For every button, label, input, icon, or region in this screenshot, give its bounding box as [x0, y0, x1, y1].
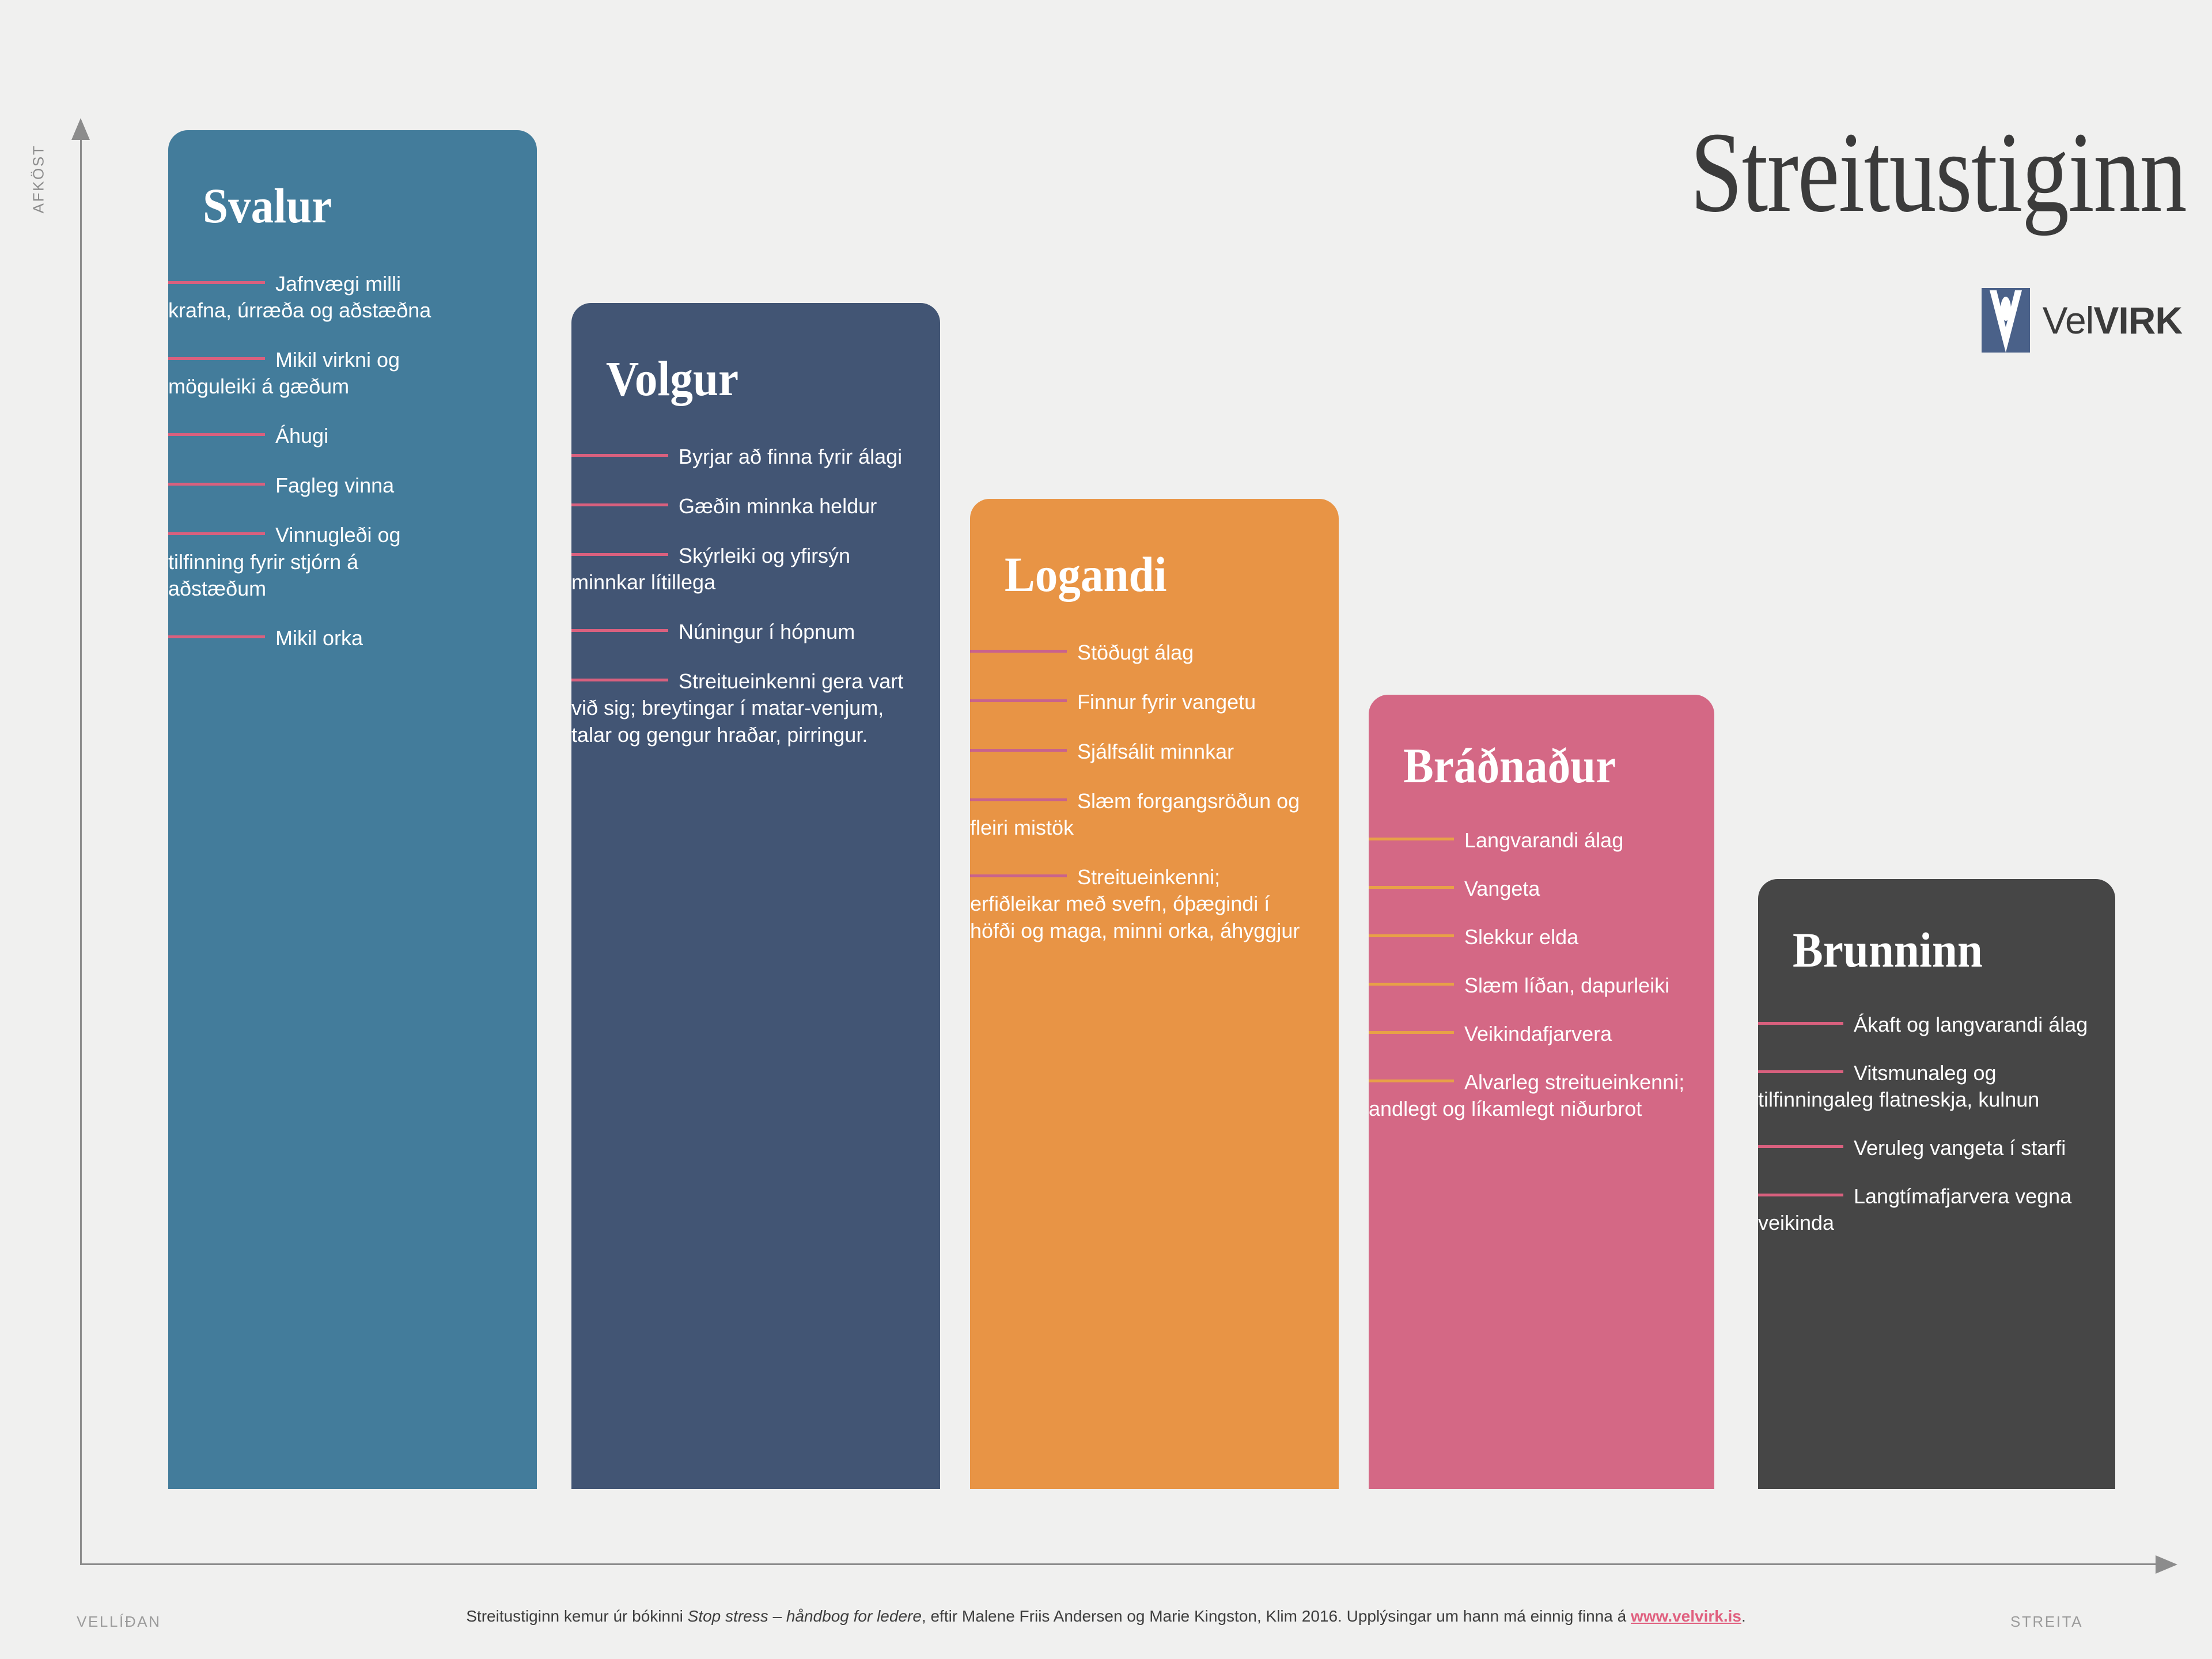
list-item-label: Veikindafjarvera — [1464, 1022, 1612, 1046]
list-item-label: Stöðugt álag — [1077, 641, 1194, 664]
velvirk-logo-text: VelVIRK — [2043, 298, 2182, 342]
list-item: Streitueinkenni; erfiðleikar með svefn, … — [970, 864, 1316, 944]
list-item-label: Langvarandi álag — [1464, 828, 1623, 852]
bullet-dash-icon — [1369, 838, 1454, 840]
bullet-dash-icon — [1369, 1080, 1454, 1082]
bullet-dash-icon — [1758, 1070, 1843, 1073]
velvirk-v-mark-icon — [1982, 288, 2030, 353]
list-item: Mikil orka — [168, 625, 456, 652]
x-axis-line — [80, 1563, 2160, 1565]
stress-level-column-bradnadur[interactable]: Bráðnaður Langvarandi álag Vangeta Slekk… — [1369, 695, 1714, 1489]
column-title-logandi: Logandi — [1005, 550, 1312, 599]
bullet-dash-icon — [1369, 934, 1454, 937]
footer-source-note: Streitustiginn kemur úr bókinni Stop str… — [0, 1607, 2212, 1626]
list-item-label: Langtímafjarvera vegna veikinda — [1758, 1184, 2071, 1234]
footer-part-2: , eftir Malene Friis Andersen og Marie K… — [922, 1607, 1631, 1625]
list-item: Streitueinkenni gera vart við sig; breyt… — [571, 668, 917, 748]
logo-text-vel: Vel — [2043, 299, 2094, 342]
list-item-label: Núningur í hópnum — [679, 620, 855, 643]
bullet-dash-icon — [1369, 1031, 1454, 1034]
column-items-volgur: Byrjar að finna fyrir álagi Gæðin minnka… — [571, 444, 940, 748]
bullet-dash-icon — [970, 749, 1067, 752]
stress-level-column-volgur[interactable]: Volgur Byrjar að finna fyrir álagi Gæðin… — [571, 303, 940, 1489]
stress-level-column-logandi[interactable]: Logandi Stöðugt álag Finnur fyrir vanget… — [970, 499, 1339, 1489]
bullet-dash-icon — [168, 483, 265, 486]
list-item: Langvarandi álag — [1369, 827, 1691, 854]
list-item: Fagleg vinna — [168, 472, 456, 499]
bullet-dash-icon — [168, 635, 265, 638]
bullet-dash-icon — [571, 553, 668, 556]
list-item-label: Mikil virkni og möguleiki á gæðum — [168, 348, 400, 398]
bullet-dash-icon — [571, 503, 668, 506]
list-item-label: Fagleg vinna — [275, 474, 394, 497]
list-item-label: Sjálfsálit minnkar — [1077, 740, 1234, 763]
bullet-dash-icon — [970, 874, 1067, 877]
bullet-dash-icon — [1369, 886, 1454, 889]
list-item: Slæm líðan, dapurleiki — [1369, 972, 1691, 999]
list-item: Jafnvægi milli krafna, úrræða og aðstæðn… — [168, 271, 456, 324]
bullet-dash-icon — [1758, 1145, 1843, 1148]
bullet-dash-icon — [168, 433, 265, 436]
list-item: Slekkur elda — [1369, 924, 1691, 950]
list-item: Vinnugleði og tilfinning fyrir stjórn á … — [168, 522, 456, 601]
list-item-label: Slæm líðan, dapurleiki — [1464, 974, 1669, 997]
list-item-label: Mikil orka — [275, 626, 363, 650]
list-item: Veikindafjarvera — [1369, 1021, 1691, 1047]
list-item: Vangeta — [1369, 876, 1691, 902]
column-items-svalur: Jafnvægi milli krafna, úrræða og aðstæðn… — [168, 271, 537, 652]
list-item: Ákaft og langvarandi álag — [1758, 1012, 2092, 1038]
bullet-dash-icon — [571, 454, 668, 457]
page-title: Streitustiginn — [1374, 115, 2186, 230]
list-item-label: Gæðin minnka heldur — [679, 494, 877, 518]
footer-book-title: Stop stress – håndbog for ledere — [688, 1607, 922, 1625]
bullet-dash-icon — [970, 699, 1067, 702]
logo-text-virk: VIRK — [2093, 299, 2182, 342]
list-item: Sjálfsálit minnkar — [970, 738, 1316, 765]
bullet-dash-icon — [571, 679, 668, 681]
list-item: Stöðugt álag — [970, 639, 1316, 666]
list-item: Langtímafjarvera vegna veikinda — [1758, 1183, 2092, 1236]
bullet-dash-icon — [1369, 983, 1454, 986]
bullet-dash-icon — [970, 650, 1067, 653]
list-item-label: Jafnvægi milli krafna, úrræða og aðstæðn… — [168, 272, 431, 322]
list-item: Núningur í hópnum — [571, 619, 917, 645]
bullet-dash-icon — [1758, 1194, 1843, 1196]
column-title-volgur: Volgur — [606, 354, 914, 403]
bullet-dash-icon — [970, 798, 1067, 801]
column-title-bradnadur: Bráðnaður — [1403, 741, 1690, 790]
list-item: Vitsmunaleg og tilfinningaleg flatneskja… — [1758, 1060, 2092, 1113]
velvirk-website-link[interactable]: www.velvirk.is — [1631, 1607, 1741, 1625]
list-item-label: Ákaft og langvarandi álag — [1854, 1013, 2088, 1036]
column-items-logandi: Stöðugt álag Finnur fyrir vangetu Sjálfs… — [970, 639, 1339, 944]
y-axis-line — [80, 134, 82, 1565]
list-item: Alvarleg streitueinkenni; andlegt og lík… — [1369, 1069, 1691, 1122]
list-item: Byrjar að finna fyrir álagi — [571, 444, 917, 470]
list-item-label: Skýrleiki og yfirsýn minnkar lítillega — [571, 544, 850, 594]
bullet-dash-icon — [168, 532, 265, 535]
list-item-label: Áhugi — [275, 424, 328, 448]
list-item-label: Vangeta — [1464, 877, 1540, 900]
bullet-dash-icon — [571, 629, 668, 632]
column-title-brunninn: Brunninn — [1793, 925, 2089, 975]
list-item-label: Byrjar að finna fyrir álagi — [679, 445, 902, 468]
column-items-brunninn: Ákaft og langvarandi álag Vitsmunaleg og… — [1758, 1012, 2115, 1236]
list-item: Slæm forgangsröðun og fleiri mistök — [970, 788, 1316, 841]
list-item: Gæðin minnka heldur — [571, 493, 917, 520]
list-item: Áhugi — [168, 423, 456, 449]
footer-part-1: Streitustiginn kemur úr bókinni — [466, 1607, 687, 1625]
velvirk-logo: VelVIRK — [1982, 288, 2182, 353]
y-axis-label: AFKÖST — [30, 116, 48, 243]
bullet-dash-icon — [168, 357, 265, 360]
list-item-label: Veruleg vangeta í starfi — [1854, 1136, 2066, 1160]
bullet-dash-icon — [1758, 1022, 1843, 1025]
list-item-label: Finnur fyrir vangetu — [1077, 690, 1256, 714]
list-item-label: Slæm forgangsröðun og fleiri mistök — [970, 789, 1300, 839]
list-item: Mikil virkni og möguleiki á gæðum — [168, 347, 456, 400]
list-item: Skýrleiki og yfirsýn minnkar lítillega — [571, 543, 917, 596]
footer-part-3: . — [1741, 1607, 1746, 1625]
stress-level-column-svalur[interactable]: Svalur Jafnvægi milli krafna, úrræða og … — [168, 130, 537, 1489]
bullet-dash-icon — [168, 281, 265, 284]
column-items-bradnadur: Langvarandi álag Vangeta Slekkur elda Sl… — [1369, 827, 1714, 1123]
column-title-svalur: Svalur — [203, 181, 510, 230]
x-axis-arrow-icon — [2156, 1555, 2177, 1574]
list-item: Veruleg vangeta í starfi — [1758, 1135, 2092, 1161]
stress-level-column-brunninn[interactable]: Brunninn Ákaft og langvarandi álag Vitsm… — [1758, 879, 2115, 1489]
list-item: Finnur fyrir vangetu — [970, 689, 1316, 715]
list-item-label: Alvarleg streitueinkenni; andlegt og lík… — [1369, 1070, 1684, 1120]
list-item-label: Slekkur elda — [1464, 925, 1578, 949]
list-item-label: Vitsmunaleg og tilfinningaleg flatneskja… — [1758, 1061, 2039, 1111]
